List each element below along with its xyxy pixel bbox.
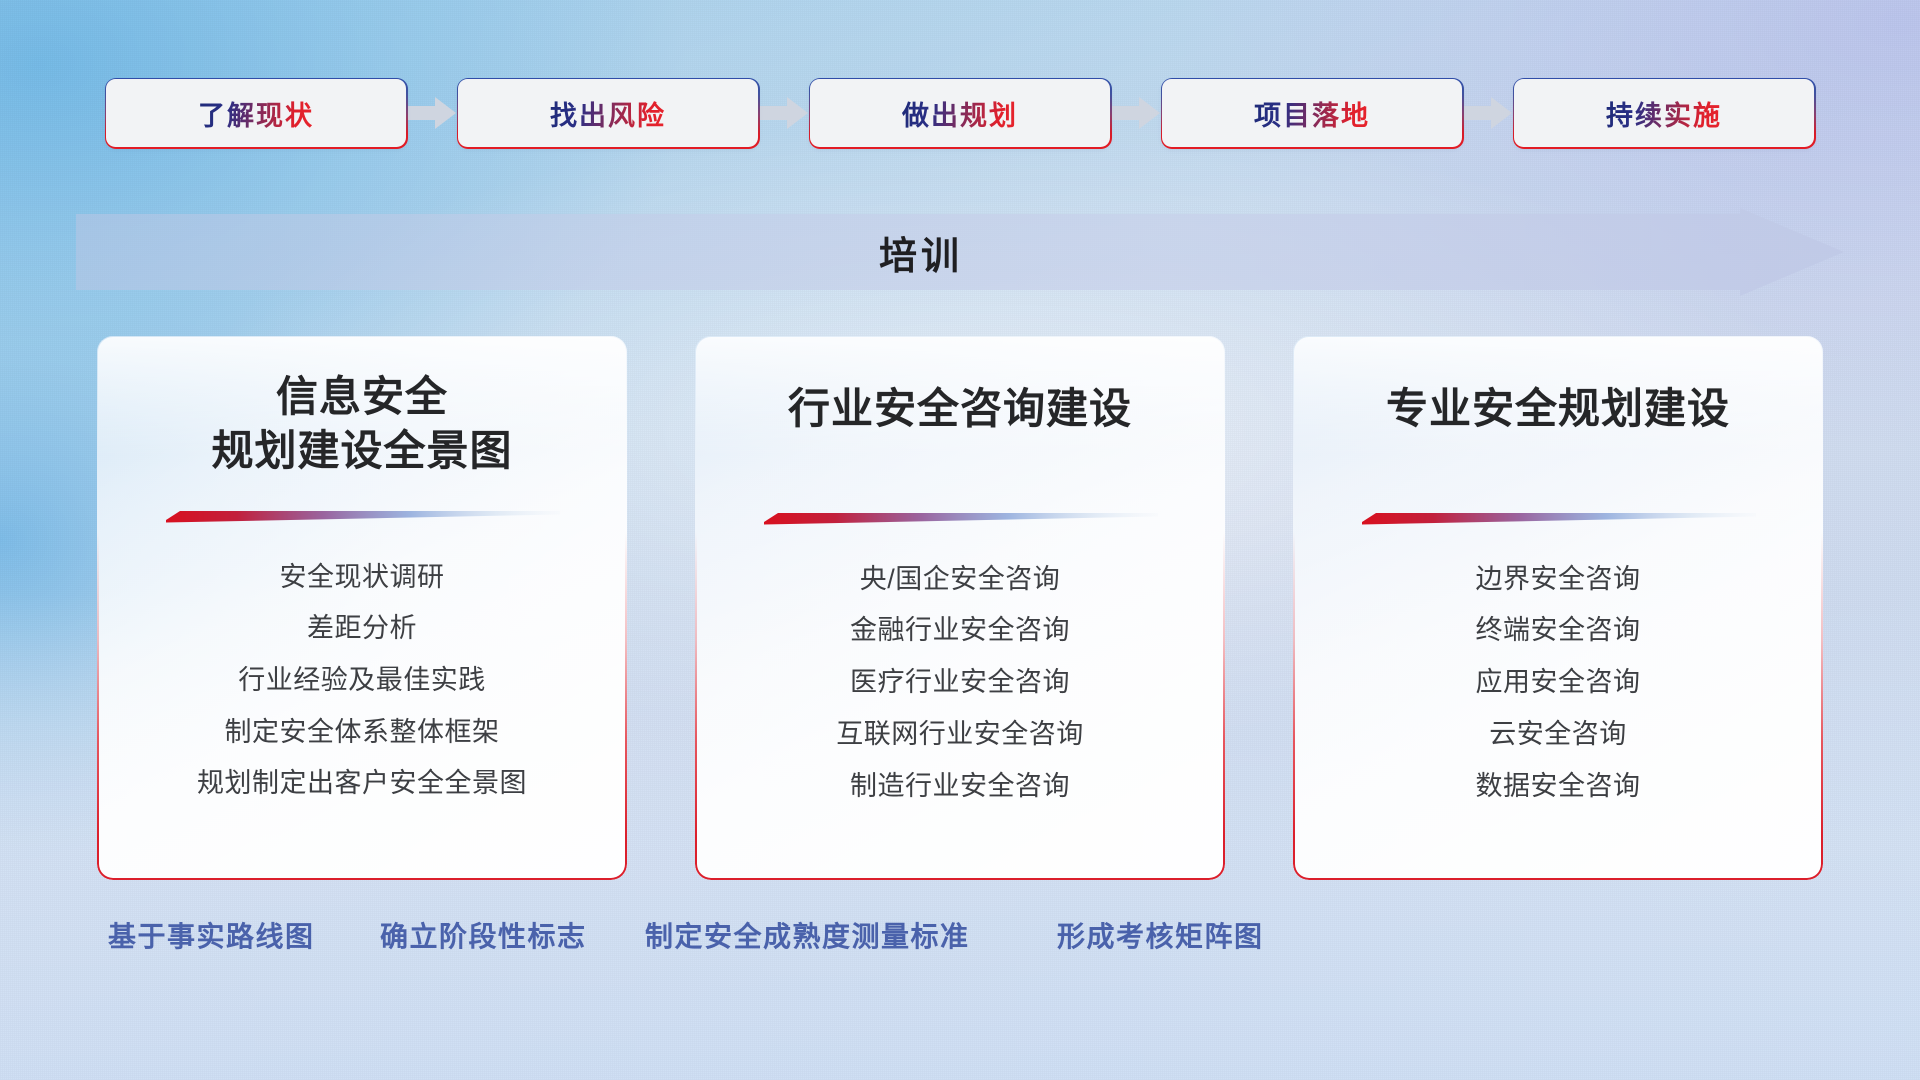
card-1-title-line-2: 规划建设全景图 [121, 424, 603, 478]
process-step-2[interactable]: 找出风险 [458, 79, 758, 147]
process-step-1-inner: 了解现状 [106, 79, 406, 147]
card-3-item-4: 云安全咨询 [1489, 713, 1627, 757]
card-1-divider [164, 508, 560, 524]
card-2-item-5: 制造行业安全咨询 [850, 765, 1070, 809]
process-step-1-label: 了解现状 [198, 94, 314, 133]
card-2-title: 行业安全咨询建设 [695, 382, 1225, 436]
card-1-title-line-1: 信息安全 [121, 370, 603, 424]
card-3-title-line-1: 专业安全规划建设 [1317, 382, 1799, 436]
process-step-row: 了解现状 找出风险 做出规划 项目落地 持续实施 [0, 78, 1920, 148]
bottom-label-roadmap: 基于事实路线图 [108, 915, 315, 955]
card-2-divider [762, 510, 1158, 526]
chevron-right-arrow-icon [1110, 96, 1162, 130]
card-1-title: 信息安全 规划建设全景图 [97, 370, 627, 478]
bottom-label-row: 基于事实路线图 确立阶段性标志 制定安全成熟度测量标准 形成考核矩阵图 [0, 915, 1920, 967]
process-step-3-inner: 做出规划 [810, 79, 1110, 147]
card-2-item-list: 央/国企安全咨询 金融行业安全咨询 医疗行业安全咨询 互联网行业安全咨询 制造行… [695, 558, 1225, 809]
card-2-item-4: 互联网行业安全咨询 [836, 713, 1084, 757]
card-2-item-1: 央/国企安全咨询 [860, 558, 1061, 602]
card-information-security-panorama[interactable]: 信息安全 规划建设全景图 [97, 336, 627, 880]
bottom-label-kpi-matrix: 形成考核矩阵图 [1057, 915, 1264, 955]
card-2-item-2: 金融行业安全咨询 [850, 609, 1070, 653]
card-professional-security-planning[interactable]: 专业安全规划建设 [1293, 336, 1823, 880]
card-3-divider [1360, 510, 1756, 526]
process-step-3-label: 做出规划 [902, 94, 1018, 133]
process-step-4-label: 项目落地 [1254, 94, 1370, 133]
card-3-title: 专业安全规划建设 [1293, 382, 1823, 436]
card-3-item-5: 数据安全咨询 [1476, 765, 1641, 809]
card-industry-security-consulting[interactable]: 行业安全咨询建设 [695, 336, 1225, 880]
training-banner-label: 培训 [76, 208, 1844, 296]
bottom-label-milestones: 确立阶段性标志 [380, 915, 587, 955]
chevron-right-arrow-icon [406, 96, 458, 130]
process-step-5[interactable]: 持续实施 [1514, 79, 1814, 147]
process-step-5-inner: 持续实施 [1514, 79, 1814, 147]
card-1-item-5: 规划制定出客户安全全景图 [197, 762, 527, 806]
process-step-3[interactable]: 做出规划 [810, 79, 1110, 147]
process-step-2-inner: 找出风险 [458, 79, 758, 147]
process-step-5-label: 持续实施 [1606, 94, 1722, 133]
card-1-item-4: 制定安全体系整体框架 [225, 711, 500, 755]
training-banner: 培训 [76, 208, 1844, 296]
process-step-4[interactable]: 项目落地 [1162, 79, 1462, 147]
card-3-item-list: 边界安全咨询 终端安全咨询 应用安全咨询 云安全咨询 数据安全咨询 [1293, 558, 1823, 809]
card-1-item-2: 差距分析 [307, 607, 417, 651]
card-2-title-line-1: 行业安全咨询建设 [719, 382, 1201, 436]
card-1-item-3: 行业经验及最佳实践 [238, 659, 486, 703]
card-3-item-1: 边界安全咨询 [1476, 558, 1641, 602]
process-step-2-label: 找出风险 [550, 94, 666, 133]
chevron-right-arrow-icon [758, 96, 810, 130]
card-row: 信息安全 规划建设全景图 [0, 336, 1920, 880]
process-step-1[interactable]: 了解现状 [106, 79, 406, 147]
card-1-item-list: 安全现状调研 差距分析 行业经验及最佳实践 制定安全体系整体框架 规划制定出客户… [97, 556, 627, 807]
card-3-item-2: 终端安全咨询 [1476, 609, 1641, 653]
card-2-item-3: 医疗行业安全咨询 [850, 661, 1070, 705]
card-1-item-1: 安全现状调研 [280, 556, 445, 600]
chevron-right-arrow-icon [1462, 96, 1514, 130]
bottom-label-maturity-scale: 制定安全成熟度测量标准 [645, 915, 970, 955]
process-step-4-inner: 项目落地 [1162, 79, 1462, 147]
card-3-item-3: 应用安全咨询 [1476, 661, 1641, 705]
